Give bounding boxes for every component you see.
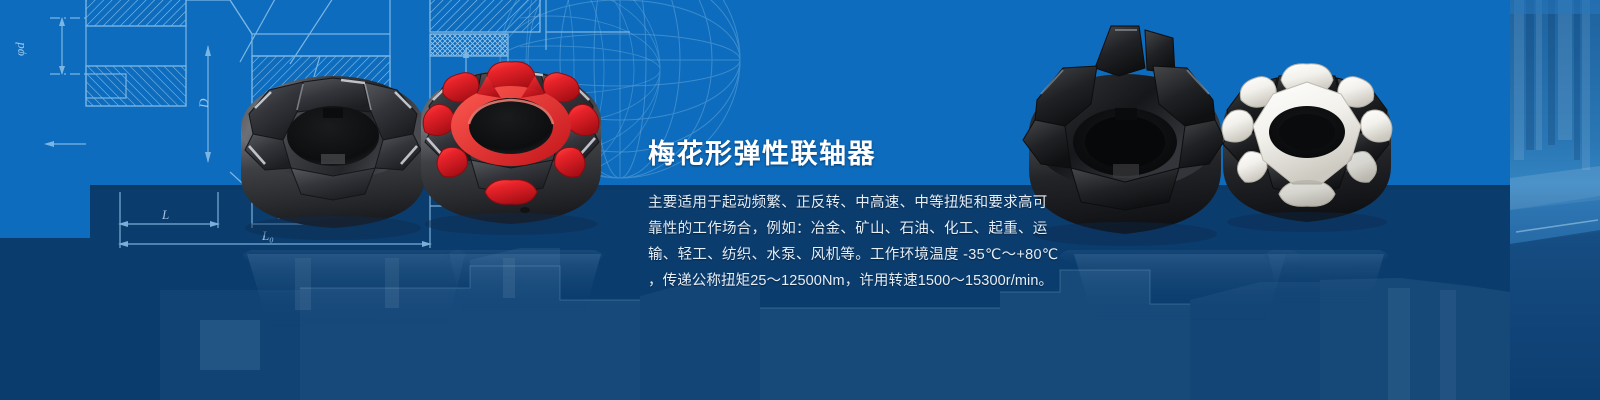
right-machinery-photo-panel xyxy=(1510,0,1600,400)
right-product-group xyxy=(1015,8,1405,248)
blueprint-label-d: D xyxy=(196,98,211,109)
page-title: 梅花形弹性联轴器 xyxy=(648,137,1068,171)
product-right-hub-with-white-spider xyxy=(1222,64,1392,232)
product-left-hub xyxy=(241,76,425,240)
blueprint-label-l-1: L xyxy=(161,207,169,222)
description-line-1: 主要适用于起动频繁、正反转、中高速、中等扭矩和要求高可 xyxy=(648,190,1068,216)
left-products-reflection xyxy=(235,250,605,360)
description-line-3: 输、轻工、纺织、水泵、风机等。工作环境温度 -35℃～+80℃ xyxy=(648,242,1068,268)
product-left-hub-with-red-spider xyxy=(421,62,601,235)
right-products-reflection xyxy=(1030,250,1390,360)
blueprint-label-phi-d: φd xyxy=(12,42,27,56)
right-panel-graphic xyxy=(1510,0,1600,400)
product-banner: φd D D₁ L L L₀ xyxy=(0,0,1600,400)
banner-text-block: 梅花形弹性联轴器 主要适用于起动频繁、正反转、中高速、中等扭矩和要求高可 靠性的… xyxy=(648,137,1068,294)
left-product-group xyxy=(225,8,620,248)
product-description: 主要适用于起动频繁、正反转、中高速、中等扭矩和要求高可 靠性的工作场合，例如：冶… xyxy=(648,190,1068,294)
description-line-2: 靠性的工作场合，例如：冶金、矿山、石油、化工、起重、运 xyxy=(648,216,1068,242)
description-line-4: ，传递公称扭矩25～12500Nm，许用转速1500～15300r/min。 xyxy=(648,268,1068,294)
